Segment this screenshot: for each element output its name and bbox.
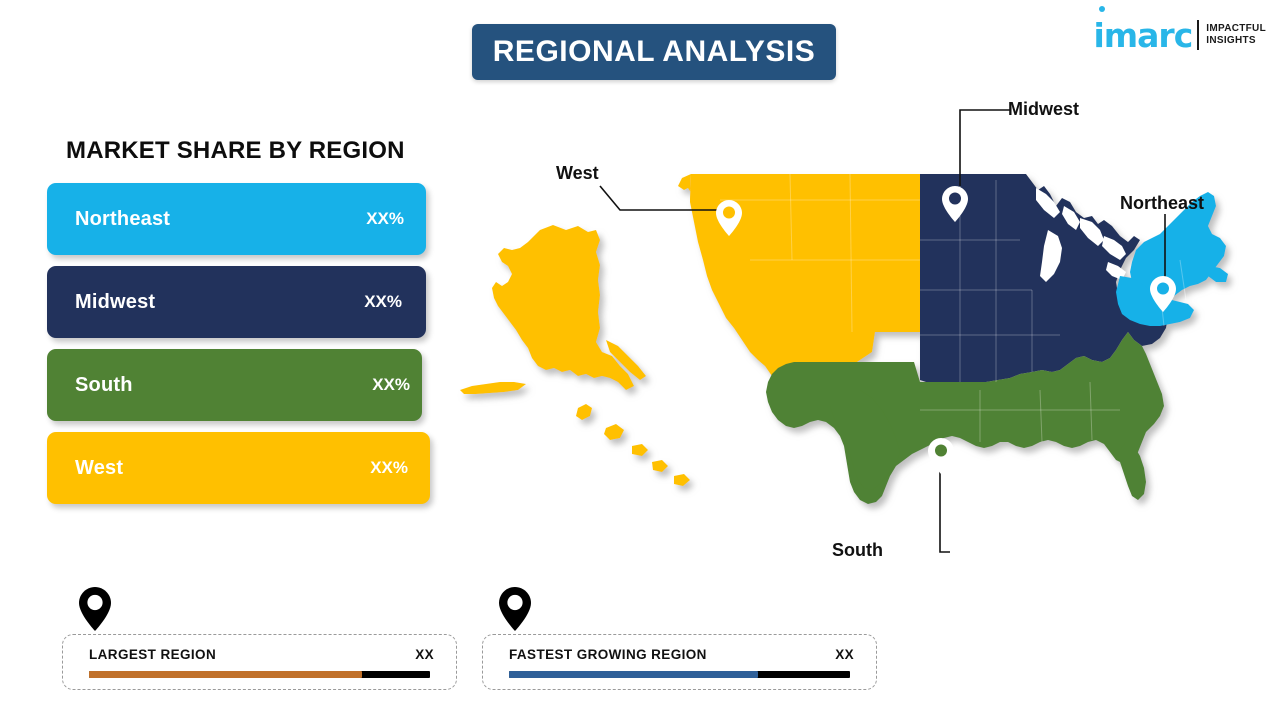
- fastest-growing-region-pin-icon: [498, 586, 532, 632]
- largest-region-meter: [89, 671, 430, 678]
- largest-region-pin-icon: [78, 586, 112, 632]
- share-bar-northeast[interactable]: Northeast XX%: [47, 183, 426, 255]
- florida-peninsula: [1120, 442, 1146, 500]
- map-landmasses: [460, 174, 1228, 504]
- fastest-growing-region-meter-fill: [509, 671, 758, 678]
- region-west-coast-detail: [678, 174, 692, 202]
- share-bar-value: XX%: [366, 209, 404, 229]
- logo-divider: [1197, 20, 1199, 50]
- northeast-cape: [1208, 266, 1228, 282]
- fastest-growing-region-caption: FASTEST GROWING REGION: [509, 647, 707, 662]
- share-bar-label: West: [75, 457, 123, 480]
- imarc-logo: imarc IMPACTFUL INSIGHTS: [1093, 14, 1266, 56]
- map-pin-south[interactable]: [928, 438, 954, 474]
- callout-label-midwest: Midwest: [1008, 99, 1079, 120]
- share-bar-label: South: [75, 374, 133, 397]
- logo-tagline: IMPACTFUL INSIGHTS: [1206, 23, 1266, 48]
- share-bar-value: XX%: [372, 375, 410, 395]
- share-bar-midwest[interactable]: Midwest XX%: [47, 266, 426, 338]
- share-bar-label: Northeast: [75, 208, 170, 231]
- fastest-growing-region-meter: [509, 671, 850, 678]
- largest-region-meter-fill: [89, 671, 362, 678]
- share-bar-west[interactable]: West XX%: [47, 432, 430, 504]
- callout-label-south: South: [832, 540, 883, 561]
- alaska-shape[interactable]: [492, 225, 634, 390]
- page-title: REGIONAL ANALYSIS: [493, 35, 815, 69]
- share-bar-value: XX%: [364, 292, 402, 312]
- fastest-growing-region-card: FASTEST GROWING REGION XX: [482, 634, 877, 690]
- share-bar-label: Midwest: [75, 291, 155, 314]
- logo-tagline-line1: IMPACTFUL: [1206, 23, 1266, 36]
- fastest-growing-region-amount: XX: [835, 647, 854, 662]
- share-bar-south[interactable]: South XX%: [47, 349, 422, 421]
- callout-label-west: West: [556, 163, 599, 184]
- leader-line-south: [940, 462, 950, 552]
- largest-region-caption: LARGEST REGION: [89, 647, 216, 662]
- hawaii-islands[interactable]: [576, 404, 690, 486]
- aleutian-chain: [460, 382, 526, 394]
- share-bar-value: XX%: [370, 458, 408, 478]
- page-title-banner: REGIONAL ANALYSIS: [472, 24, 836, 80]
- logo-wordmark: imarc: [1093, 19, 1192, 52]
- us-map-svg: [420, 90, 1280, 590]
- market-share-list: Northeast XX% Midwest XX% South XX% West…: [47, 183, 432, 515]
- largest-region-amount: XX: [415, 647, 434, 662]
- slide-canvas: REGIONAL ANALYSIS imarc IMPACTFUL INSIGH…: [0, 0, 1280, 720]
- callout-label-northeast: Northeast: [1120, 193, 1204, 214]
- us-regional-map: West Midwest Northeast South: [420, 90, 1280, 590]
- market-share-heading: MARKET SHARE BY REGION: [66, 137, 405, 165]
- logo-dot-icon: [1099, 6, 1105, 12]
- logo-tagline-line2: INSIGHTS: [1206, 35, 1266, 48]
- largest-region-card: LARGEST REGION XX: [62, 634, 457, 690]
